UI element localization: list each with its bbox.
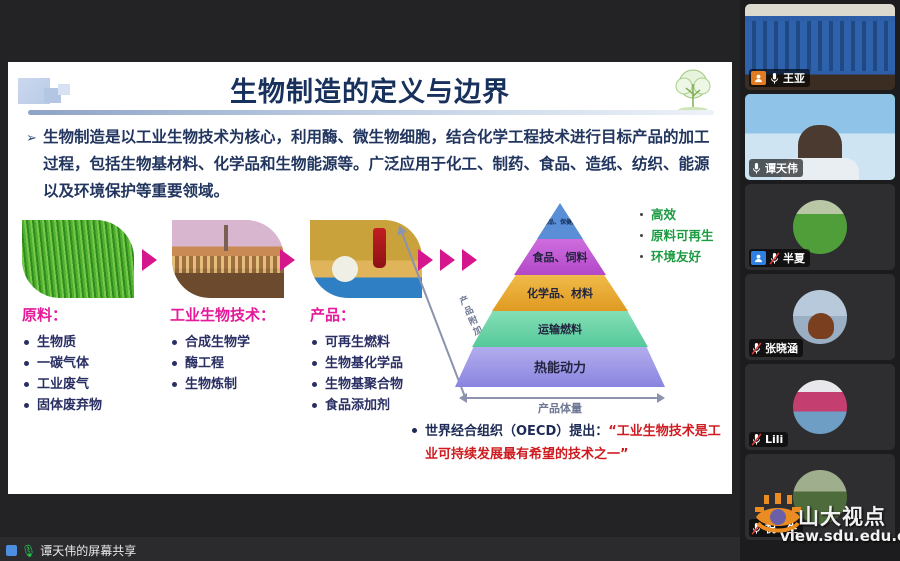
bullet-dot-icon [412,428,417,433]
list-item: 固体废弃物 [22,395,162,416]
share-caption: 🎙 谭天伟的屏幕共享 [6,542,136,559]
list-item: 可再生燃料 [310,332,460,353]
flow-arrow-icon [440,249,455,271]
list-item: 工业废气 [22,374,162,395]
slide-title: 生物制造的定义与边界 [8,70,732,109]
nameplate: 王亚 [749,69,810,87]
avatar [793,470,847,524]
pyramid-tier-5: 热能动力 [455,346,665,387]
screen-share-icon [6,545,17,556]
pyramid-tier-label: 药品、保健品 [542,217,578,226]
person-icon [751,71,766,85]
title-divider [28,110,714,115]
avatar [793,290,847,344]
participant-tile-tantianwei[interactable]: 谭天伟 [745,94,895,180]
list-item: 生物炼制 [170,374,320,395]
benefit-item: 高效 [638,204,732,225]
participant-name: 王亚 [783,70,805,86]
pyramid-tier-label: 运输燃料 [538,321,582,337]
participant-tile-wangya[interactable]: 王亚 [745,4,895,90]
pyramid-tier-1: 药品、保健品 [537,203,583,239]
participant-name: Lili [765,433,783,446]
bullet-arrow-icon: ➢ [26,125,37,152]
nameplate: 张晓涵 [749,339,803,357]
participant-tile-lili[interactable]: Lili [745,364,895,450]
benefit-item: 环境友好 [638,246,732,267]
column-technology: 工业生物技术： 合成生物学 酶工程 生物炼制 [170,304,320,395]
screen-share-stage[interactable]: 生物制造的定义与边界 ➢ 生物制造是以工业生物技术为核心，利用酶、微生物细胞，结… [0,0,740,561]
column-products: 产品： 可再生燃料 生物基化学品 生物基聚合物 食品添加剂 [310,304,460,416]
grass-photo [22,220,134,298]
list-item: 生物基化学品 [310,353,460,374]
benefit-item: 原料可再生 [638,225,732,246]
nameplate: 祝…生 [749,519,803,537]
nameplate: Lili [749,432,788,447]
avatar [793,200,847,254]
benefits-list: 高效 原料可再生 环境友好 [638,204,732,267]
participant-name: 张晓涵 [765,340,798,356]
mic-icon: 🎙 [21,544,36,558]
pyramid-tier-4: 运输燃料 [472,310,648,347]
list-item: 生物质 [22,332,162,353]
column-feedstock: 原料： 生物质 一碳气体 工业废气 固体废弃物 [22,304,162,416]
pyramid-tier-label: 热能动力 [534,357,586,376]
mic-muted-icon [751,522,762,535]
nameplate: 谭天伟 [749,159,803,177]
pyramid-tier-2: 食品、饲料 [514,238,606,275]
pyramid-tier-3: 化学品、材料 [492,274,628,311]
flow-arrow-icon [280,249,295,271]
participant-name: 半夏 [783,250,805,266]
list-item: 合成生物学 [170,332,320,353]
oecd-text: 世界经合组织（OECD）提出：“工业生物技术是工业可持续发展最有希望的技术之一” [425,420,722,466]
participant-tile-zhangxiaohan[interactable]: 张晓涵 [745,274,895,360]
participant-name: 祝…生 [765,520,798,536]
nameplate: 半夏 [749,249,810,267]
list-item: 酶工程 [170,353,320,374]
flow-arrow-icon [142,249,157,271]
list-item: 一碳气体 [22,353,162,374]
avatar [793,380,847,434]
participant-tile-last[interactable]: 祝…生 [745,454,895,540]
oecd-quote-block: 世界经合组织（OECD）提出：“工业生物技术是工业可持续发展最有希望的技术之一” [412,420,722,466]
mic-on-icon [751,162,762,175]
column-heading: 原料： [22,304,162,325]
flow-arrow-icon [418,249,433,271]
mic-muted-icon [769,252,780,265]
pyramid-horizontal-axis-label: 产品体量 [460,400,660,416]
mic-on-icon [769,72,780,85]
list-item: 生物基聚合物 [310,374,460,395]
share-caption-label: 谭天伟的屏幕共享 [40,542,136,559]
pyramid-horizontal-axis [466,397,658,399]
participant-name: 谭天伟 [765,160,798,176]
value-pyramid-diagram: 产品附加值 热能动力 运输燃料 化学品、材料 食品、饲料 药品、保健品 产品体量 [460,200,660,415]
oecd-prefix: 世界经合组织（OECD）提出： [425,424,608,439]
person-icon [751,251,766,265]
video-conference-window: 生物制造的定义与边界 ➢ 生物制造是以工业生物技术为核心，利用酶、微生物细胞，结… [0,0,900,561]
presentation-slide: 生物制造的定义与边界 ➢ 生物制造是以工业生物技术为核心，利用酶、微生物细胞，结… [8,62,732,494]
paragraph-text: 生物制造是以工业生物技术为核心，利用酶、微生物细胞，结合化学工程技术进行目标产品… [43,124,716,205]
participant-tile-banxia[interactable]: 半夏 [745,184,895,270]
pyramid-tier-label: 化学品、材料 [527,285,593,301]
column-heading: 工业生物技术： [170,304,320,325]
participant-filmstrip[interactable]: 王亚 谭天伟 半夏 [740,0,900,561]
pyramid-tier-label: 食品、饲料 [533,249,588,265]
mic-muted-icon [751,342,762,355]
mic-muted-icon [751,433,762,446]
list-item: 食品添加剂 [310,395,460,416]
factory-photo [172,220,284,298]
slide-paragraph: ➢ 生物制造是以工业生物技术为核心，利用酶、微生物细胞，结合化学工程技术进行目标… [26,124,716,205]
